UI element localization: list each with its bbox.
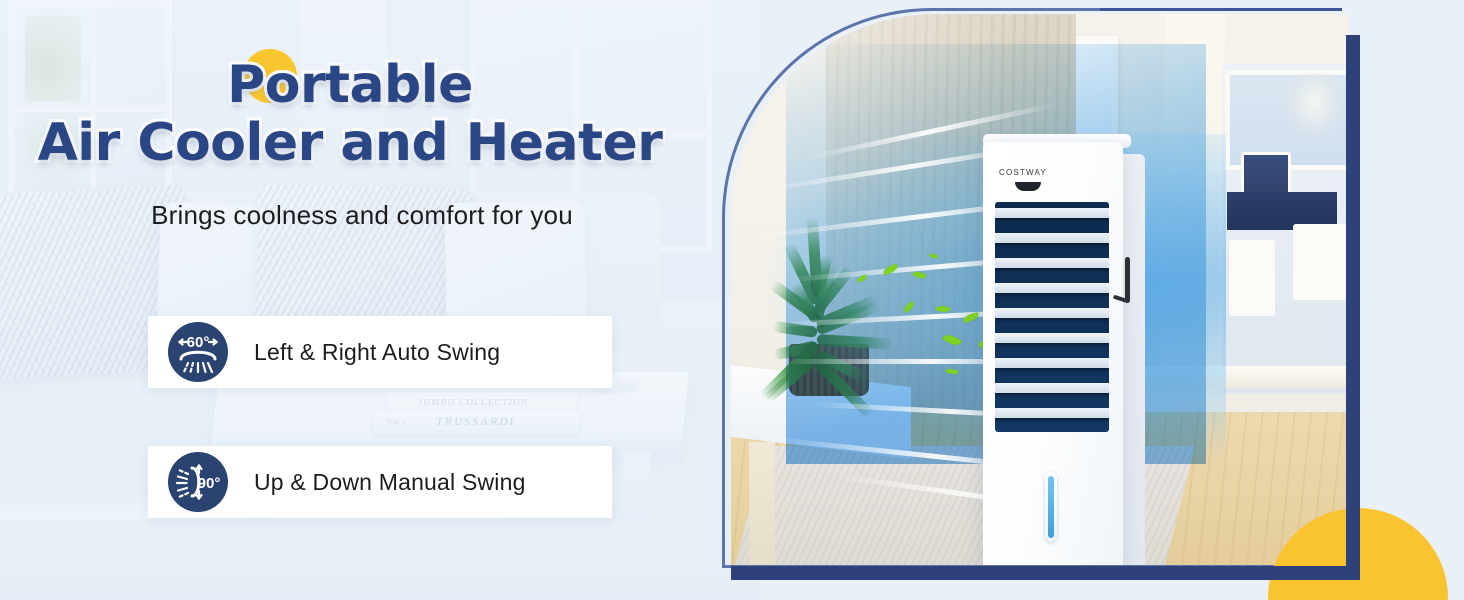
- swing-lr-glyph: 60°: [168, 322, 228, 382]
- svg-text:60°: 60°: [187, 334, 210, 351]
- photo-frame-outline: [722, 8, 1340, 568]
- svg-text:90°: 90°: [198, 475, 221, 492]
- feature-card-up-down-swing: 90° Up & Down Manual Swing: [148, 446, 612, 518]
- headline-line-1: Portable: [0, 56, 700, 114]
- subtitle: Brings coolness and comfort for you: [0, 200, 724, 231]
- swing-up-down-icon: 90°: [168, 452, 228, 512]
- product-banner: JUMBO COLLECTION TRUSSARDI No.1: [0, 0, 1464, 600]
- page-title: Portable Air Cooler and Heater: [0, 56, 700, 172]
- swing-left-right-icon: 60°: [168, 322, 228, 382]
- headline-line-2: Air Cooler and Heater: [0, 114, 700, 172]
- frame-bar-bottom: [731, 566, 1351, 580]
- feature-label: Up & Down Manual Swing: [254, 469, 526, 496]
- frame-bar-right: [1346, 35, 1360, 580]
- feature-card-left-right-swing: 60° Left & Right Auto Swing: [148, 316, 612, 388]
- swing-ud-glyph: 90°: [168, 452, 228, 512]
- feature-label: Left & Right Auto Swing: [254, 339, 500, 366]
- photo-frame-top-line: [1100, 8, 1342, 11]
